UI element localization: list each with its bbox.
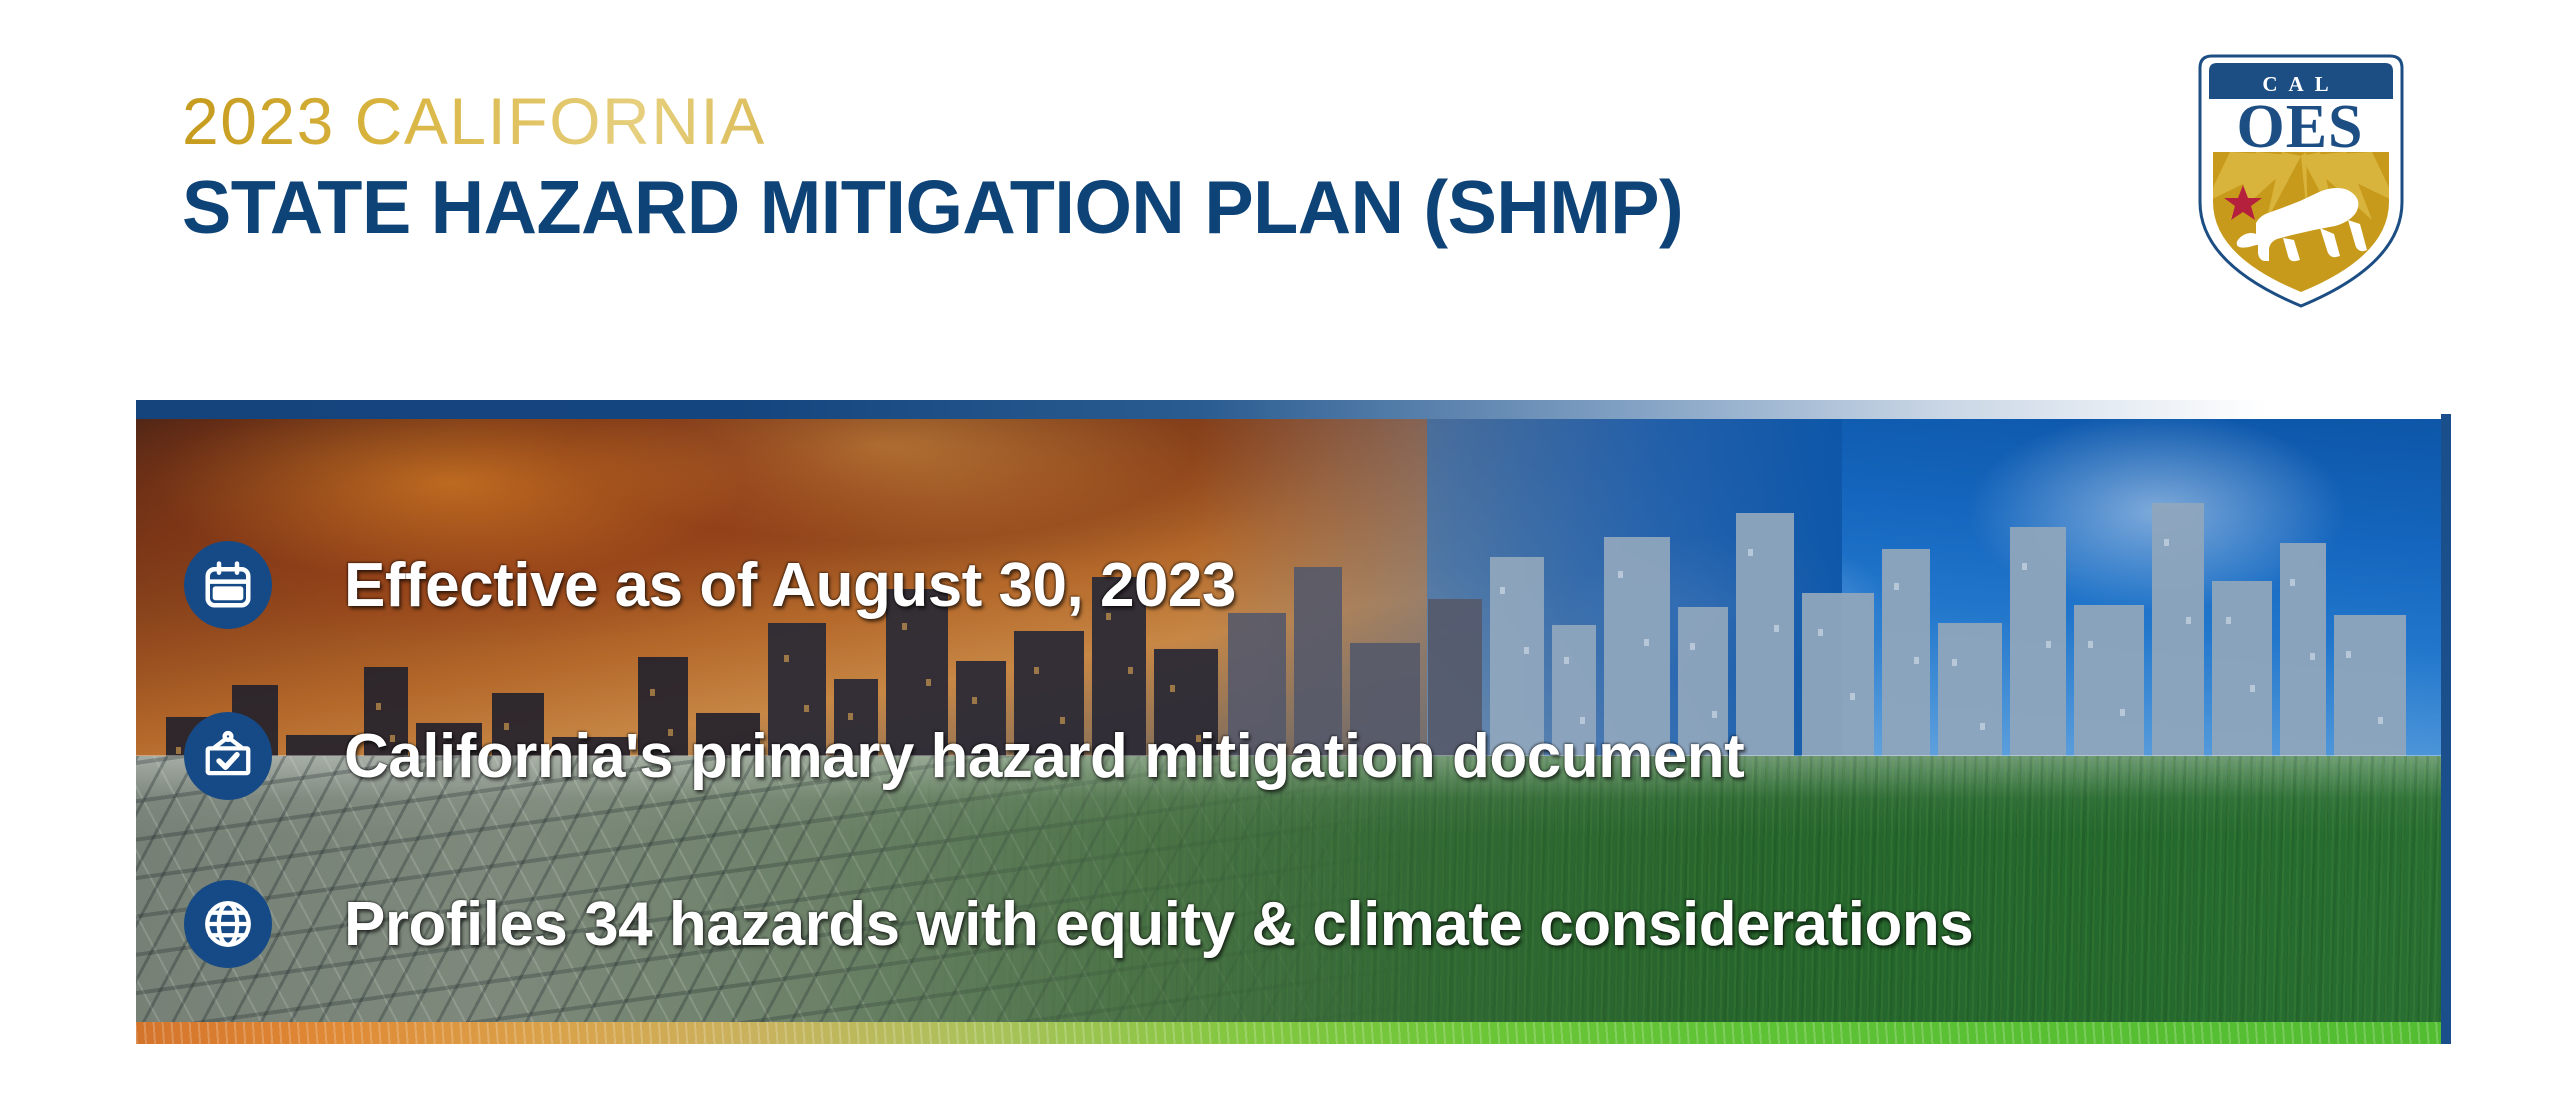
title-block: 2023 CALIFORNIA STATE HAZARD MITIGATION … [182, 88, 1706, 245]
bullet-text: California's primary hazard mitigation d… [344, 721, 1744, 792]
calendar-icon [184, 541, 272, 629]
banner-photo: Effective as of August 30, 2023 Californ… [136, 417, 2441, 1044]
slide-header: 2023 CALIFORNIA STATE HAZARD MITIGATION … [0, 0, 2560, 392]
svg-text:OES: OES [2236, 93, 2363, 161]
hero-banner: Effective as of August 30, 2023 Californ… [136, 400, 2451, 1044]
page-title: STATE HAZARD MITIGATION PLAN (SHMP) [182, 170, 1683, 245]
bullet-row-hazard-profiles: Profiles 34 hazards with equity & climat… [184, 880, 1973, 968]
cal-oes-logo: CAL OES [2196, 52, 2406, 310]
bullet-text: Profiles 34 hazards with equity & climat… [344, 889, 1973, 960]
bullet-row-effective-date: Effective as of August 30, 2023 [184, 541, 1236, 629]
slide: 2023 CALIFORNIA STATE HAZARD MITIGATION … [0, 0, 2560, 1109]
banner-right-accent-edge [2441, 414, 2451, 1044]
checked-plaque-icon [184, 712, 272, 800]
eyebrow-text: 2023 CALIFORNIA [182, 88, 1706, 154]
bullet-text: Effective as of August 30, 2023 [344, 550, 1236, 621]
globe-icon [184, 880, 272, 968]
banner-bullet-list: Effective as of August 30, 2023 Californ… [136, 417, 2441, 1044]
bullet-row-primary-document: California's primary hazard mitigation d… [184, 712, 1744, 800]
